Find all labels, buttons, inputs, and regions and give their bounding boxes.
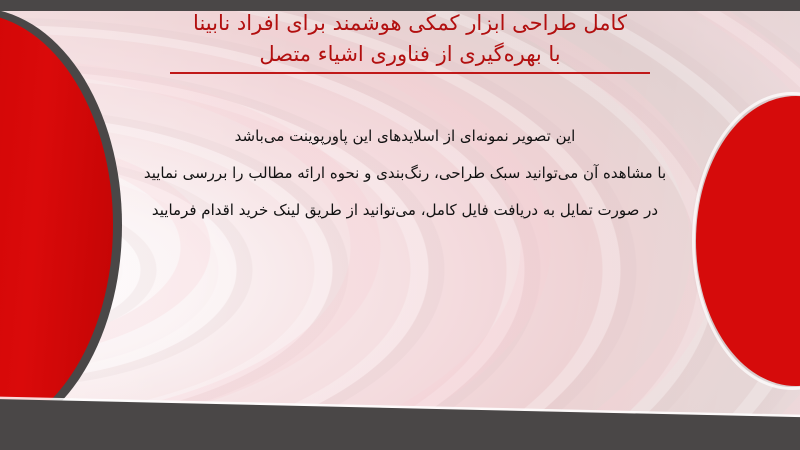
slide-title: کامل طراحی ابزار کمکی هوشمند برای افراد … xyxy=(140,8,680,74)
body-line-1: این تصویر نمونه‌ای از اسلایدهای این پاور… xyxy=(120,118,690,155)
slide-canvas: کامل طراحی ابزار کمکی هوشمند برای افراد … xyxy=(0,0,800,450)
body-line-2: با مشاهده آن می‌توانید سبک طراحی، رنگ‌بن… xyxy=(120,155,690,192)
title-underline xyxy=(170,72,650,74)
slide-body: این تصویر نمونه‌ای از اسلایدهای این پاور… xyxy=(120,118,690,229)
title-line-1: کامل طراحی ابزار کمکی هوشمند برای افراد … xyxy=(140,8,680,39)
title-line-2: با بهره‌گیری از فناوری اشیاء متصل xyxy=(140,39,680,70)
body-line-3: در صورت تمایل به دریافت فایل کامل، می‌تو… xyxy=(120,192,690,229)
